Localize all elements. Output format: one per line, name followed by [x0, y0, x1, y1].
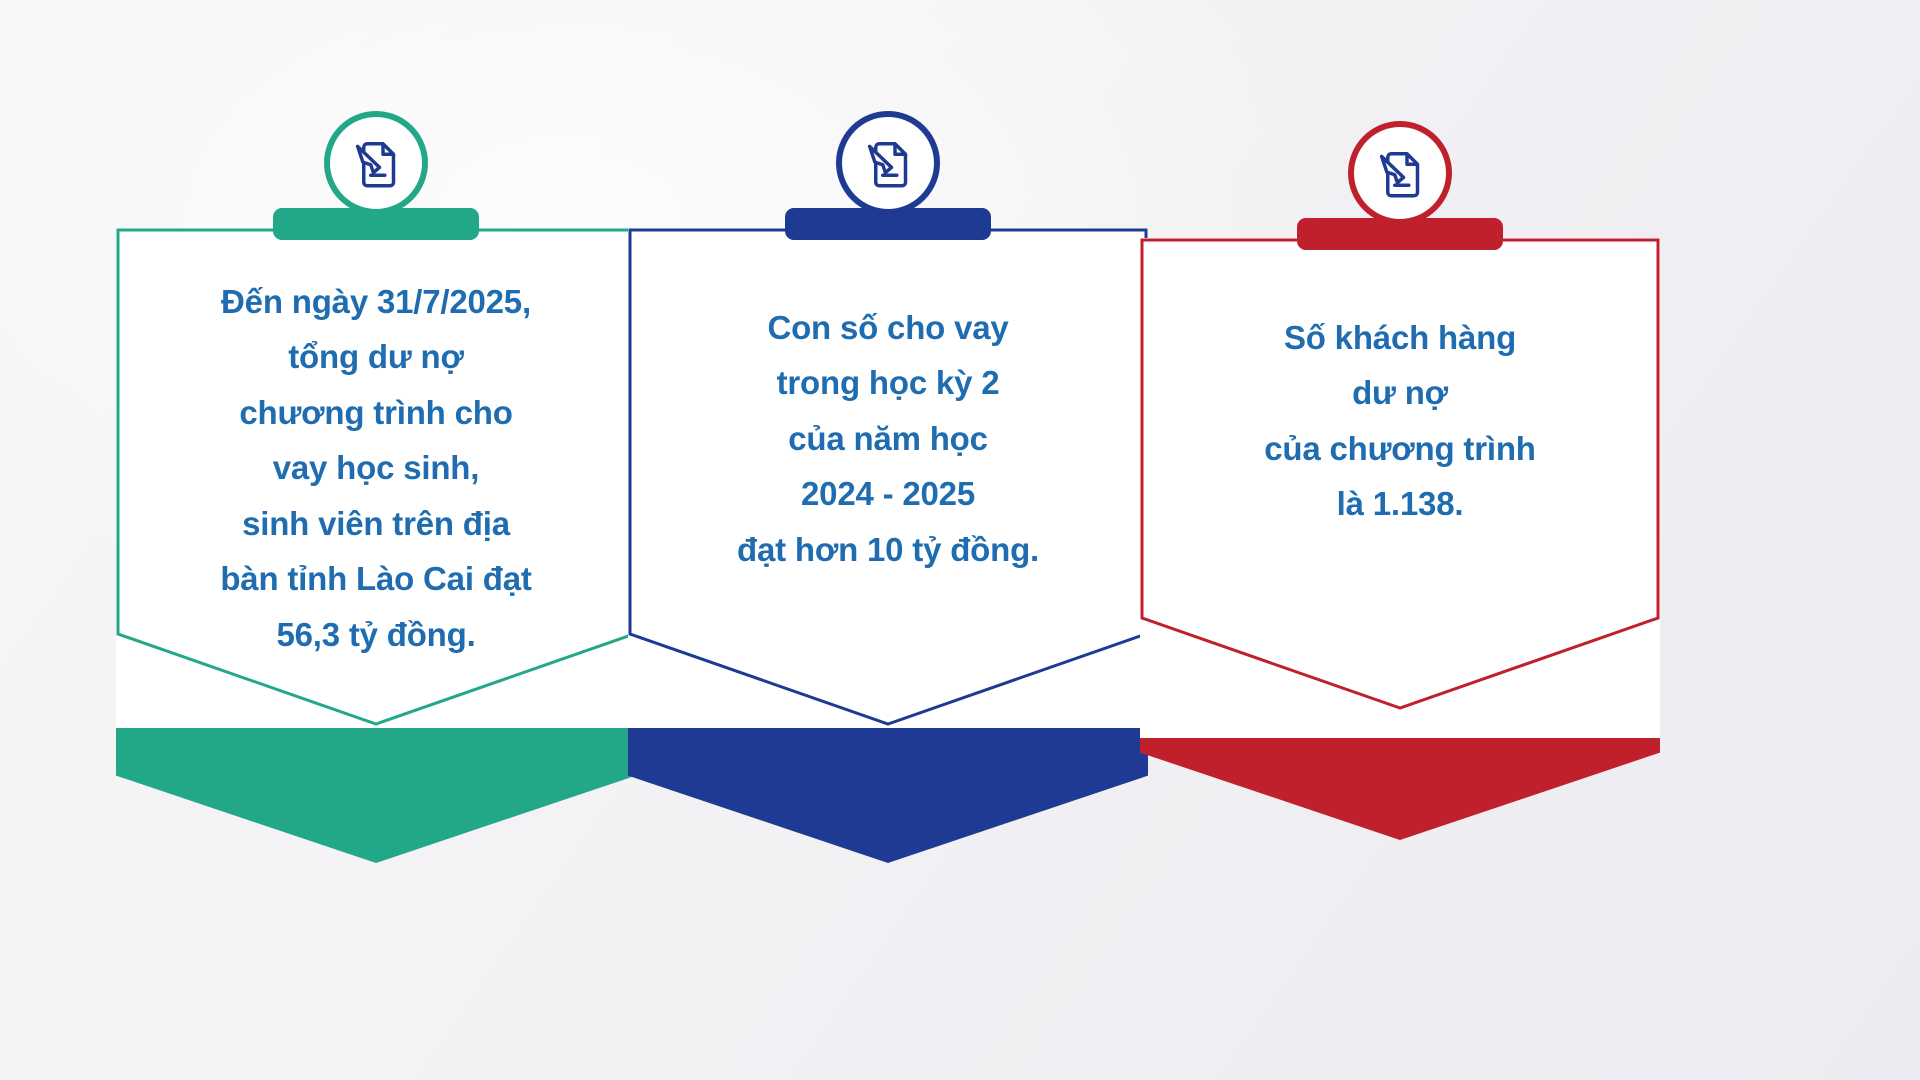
card-3-text: Số khách hàng dư nợ của chương trình là … — [1140, 310, 1660, 532]
card-3-icon-badge — [1348, 121, 1452, 225]
card-2-text: Con số cho vay trong học kỳ 2 của năm họ… — [628, 300, 1148, 577]
document-pen-icon — [860, 135, 916, 191]
document-pen-icon — [348, 135, 404, 191]
infographic-stage: Đến ngày 31/7/2025, tổng dư nợ chương tr… — [0, 0, 1920, 1080]
card-1-text: Đến ngày 31/7/2025, tổng dư nợ chương tr… — [116, 274, 636, 662]
card-2-icon-badge — [836, 111, 940, 215]
card-1-icon-badge — [324, 111, 428, 215]
document-pen-icon — [1372, 145, 1428, 201]
